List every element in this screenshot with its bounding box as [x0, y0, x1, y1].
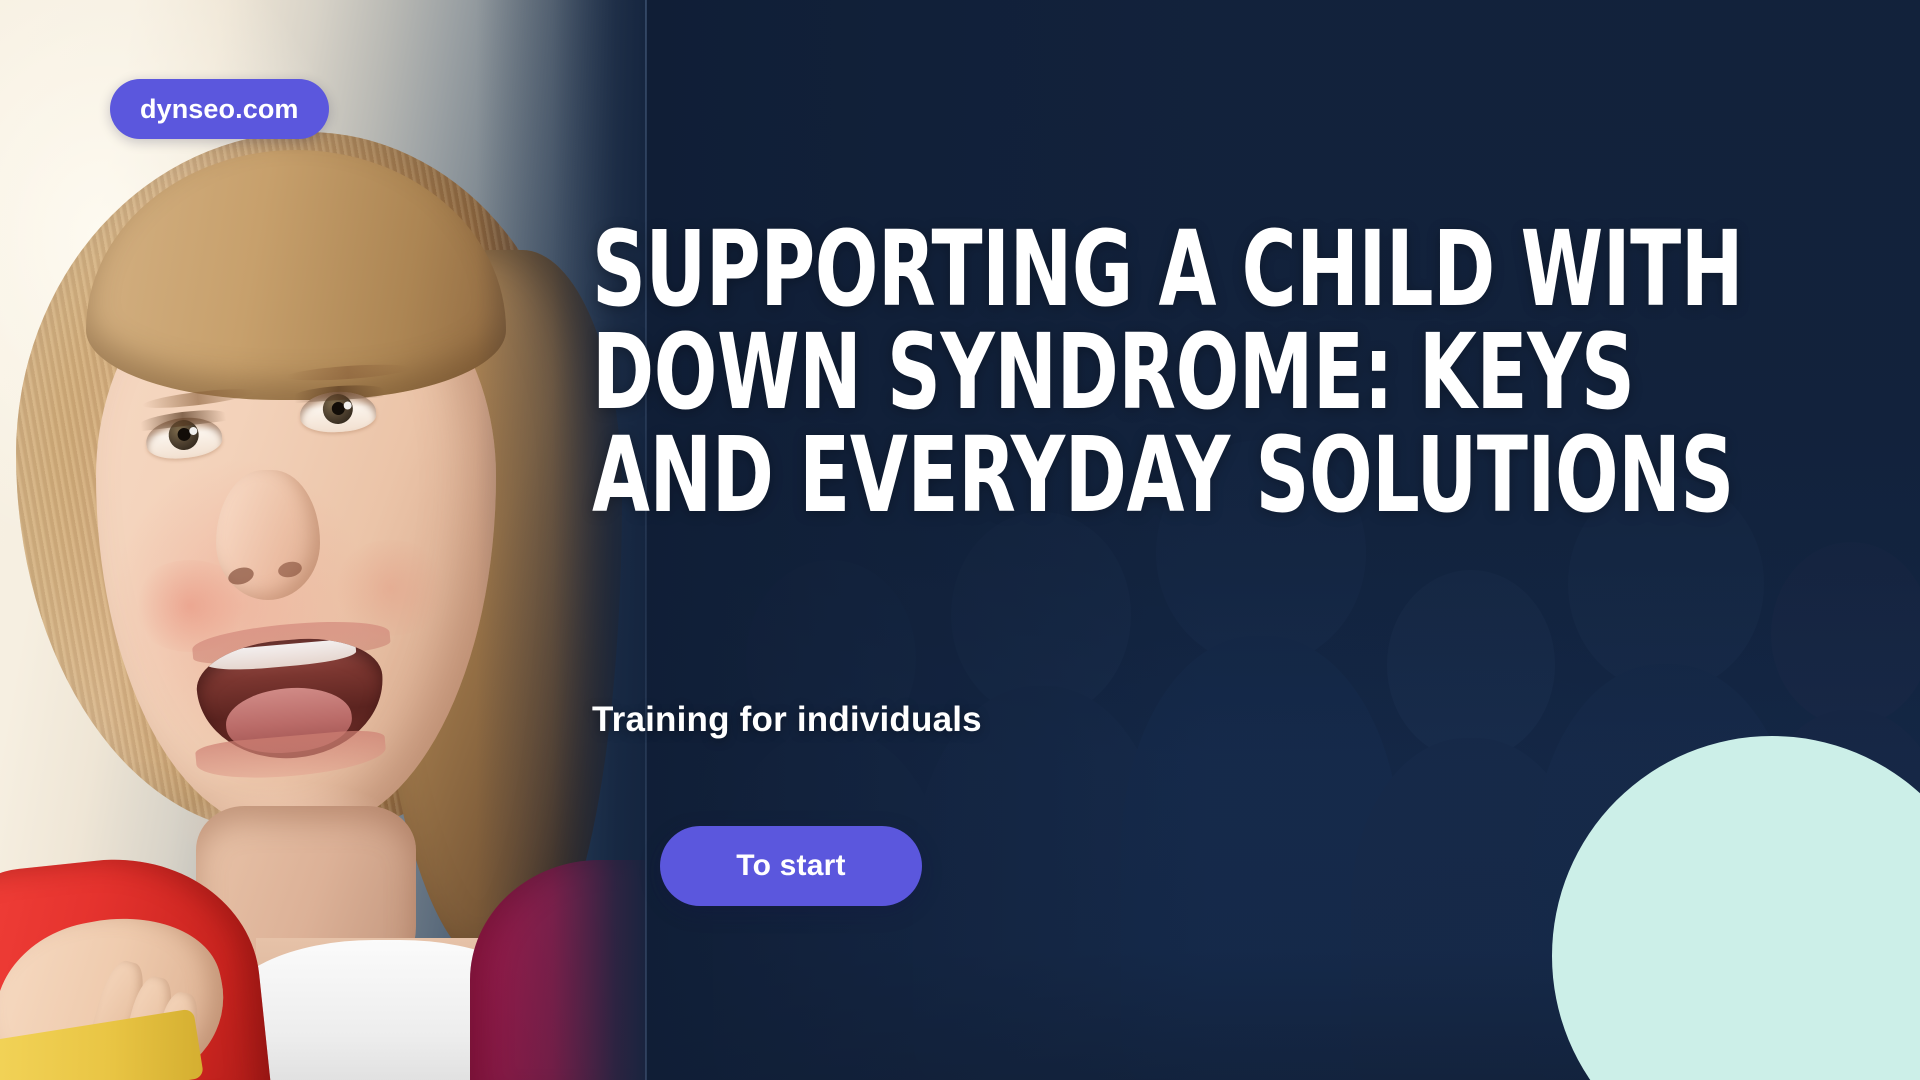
headline-line-3: AND EVERYDAY SOLUTIONS	[592, 424, 1536, 527]
hero-banner: dynseo.com SUPPORTING A CHILD WITH DOWN …	[0, 0, 1920, 1080]
panel-divider	[645, 0, 647, 1080]
hero-photo-left	[0, 0, 646, 1080]
headline-line-1: SUPPORTING A CHILD WITH	[592, 218, 1536, 321]
site-badge-label: dynseo.com	[140, 96, 299, 123]
site-badge[interactable]: dynseo.com	[110, 79, 329, 139]
photo-edge-fade	[476, 0, 646, 1080]
hero-subtitle: Training for individuals	[592, 700, 982, 740]
page-title: SUPPORTING A CHILD WITH DOWN SYNDROME: K…	[592, 218, 1536, 527]
to-start-button[interactable]: To start	[660, 826, 922, 906]
headline-line-2: DOWN SYNDROME: KEYS	[592, 321, 1536, 424]
